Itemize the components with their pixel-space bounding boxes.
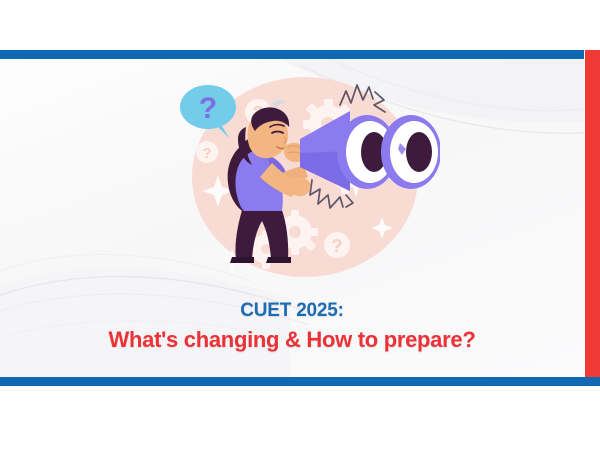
illustration-container: ? ? ? <box>160 67 440 282</box>
question-mark-2: ? <box>196 141 218 163</box>
svg-text:?: ? <box>332 236 343 256</box>
shoe-right <box>266 257 291 263</box>
top-blue-border-bar <box>0 50 584 59</box>
slide-banner: ? ? ? <box>0 50 600 386</box>
question-mark-3: ? <box>324 232 350 258</box>
woman-with-binoculars-illustration: ? ? ? <box>160 67 440 282</box>
svg-text:?: ? <box>202 145 211 162</box>
bottom-blue-border-bar <box>0 377 600 386</box>
binocular-pupil-right <box>406 132 432 172</box>
slide-title-primary: CUET 2025: <box>0 299 584 323</box>
slide-heading-block: CUET 2025: What's changing & How to prep… <box>0 299 584 354</box>
speech-bubble-glyph: ? <box>199 92 217 125</box>
shoe-left <box>230 257 254 263</box>
right-red-border-stripe <box>585 50 600 377</box>
slide-title-secondary: What's changing & How to prepare? <box>0 326 584 355</box>
slide-canvas: ? ? ? <box>0 59 584 377</box>
